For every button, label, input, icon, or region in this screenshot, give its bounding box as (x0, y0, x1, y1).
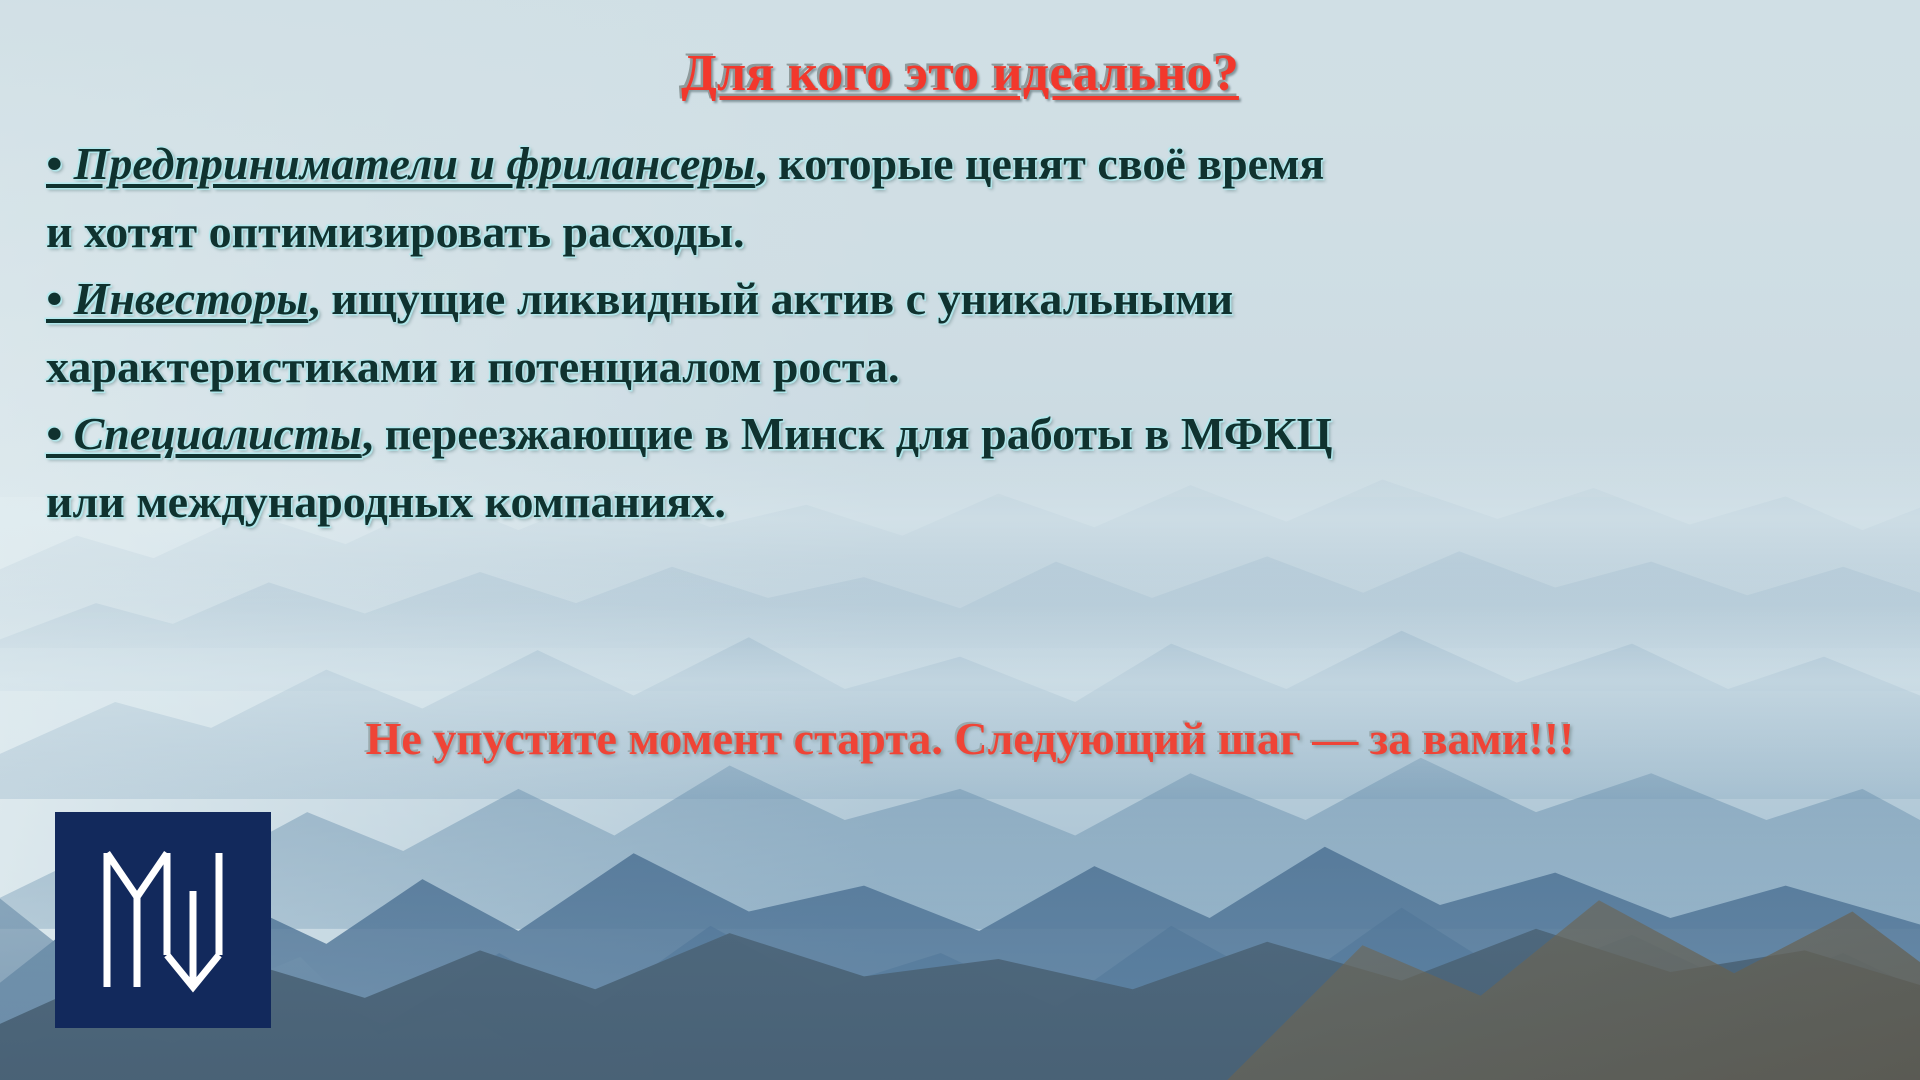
bullet-lead-entrepreneurs: • Предприниматели и фрилансеры (46, 138, 755, 189)
call-to-action-text: Не упустите момент старта. Следующий шаг… (0, 712, 1920, 765)
bullet-line-4: характеристиками и потенциалом роста. (46, 333, 1874, 401)
bullet-list: • Предприниматели и фрилансеры, которые … (0, 130, 1920, 536)
bullet-rest-3: , ищущие ликвидный актив с уникальными (308, 273, 1233, 324)
bullet-line-2: и хотят оптимизировать расходы. (46, 198, 1874, 266)
slide-title-text: Для кого это идеально? (681, 45, 1239, 102)
bullet-line-1: • Предприниматели и фрилансеры, которые … (46, 130, 1874, 198)
brand-logo: MW (55, 812, 271, 1028)
slide-title: Для кого это идеально? (0, 44, 1920, 103)
bullet-rest-2: и хотят оптимизировать расходы. (46, 206, 745, 257)
bullet-lead-specialists: • Специалисты (46, 408, 362, 459)
bullet-lead-investors: • Инвесторы (46, 273, 308, 324)
bullet-line-3: • Инвесторы, ищущие ликвидный актив с ун… (46, 265, 1874, 333)
slide-content: Для кого это идеально? • Предприниматели… (0, 0, 1920, 1080)
bullet-rest-5: , переезжающие в Минск для работы в МФКЦ (362, 408, 1333, 459)
bullet-rest-4: характеристиками и потенциалом роста. (46, 341, 900, 392)
bullet-line-5: • Специалисты, переезжающие в Минск для … (46, 400, 1874, 468)
bullet-rest-1: , которые ценят своё время (755, 138, 1324, 189)
mw-monogram-icon (93, 845, 233, 995)
bullet-line-6: или международных компаниях. (46, 468, 1874, 536)
bullet-rest-6: или международных компаниях. (46, 476, 726, 527)
